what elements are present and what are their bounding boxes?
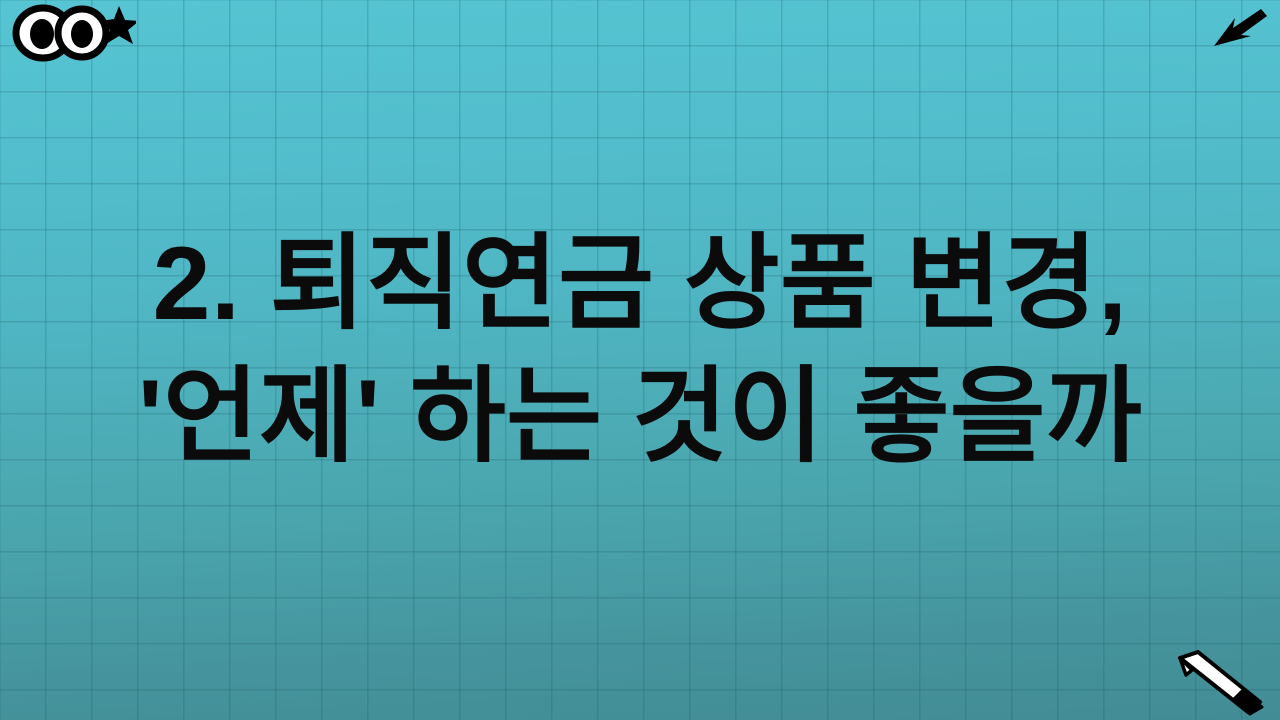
arrow-cursor-decoration bbox=[1204, 2, 1276, 58]
page-title: 2. 퇴직연금 상품 변경, '언제' 하는 것이 좋을까 bbox=[0, 218, 1280, 484]
title-line-2: '언제' 하는 것이 좋을까 bbox=[40, 351, 1240, 484]
title-line-1: 2. 퇴직연금 상품 변경, bbox=[40, 218, 1240, 351]
pencil-icon bbox=[1180, 652, 1262, 714]
slide-canvas: 2. 퇴직연금 상품 변경, '언제' 하는 것이 좋을까 bbox=[0, 0, 1280, 720]
eyes-star-decoration bbox=[6, 2, 136, 64]
arrow-cursor-icon bbox=[1214, 9, 1267, 46]
pencil-decoration bbox=[1168, 644, 1272, 716]
googly-eyes-icon bbox=[16, 8, 106, 58]
